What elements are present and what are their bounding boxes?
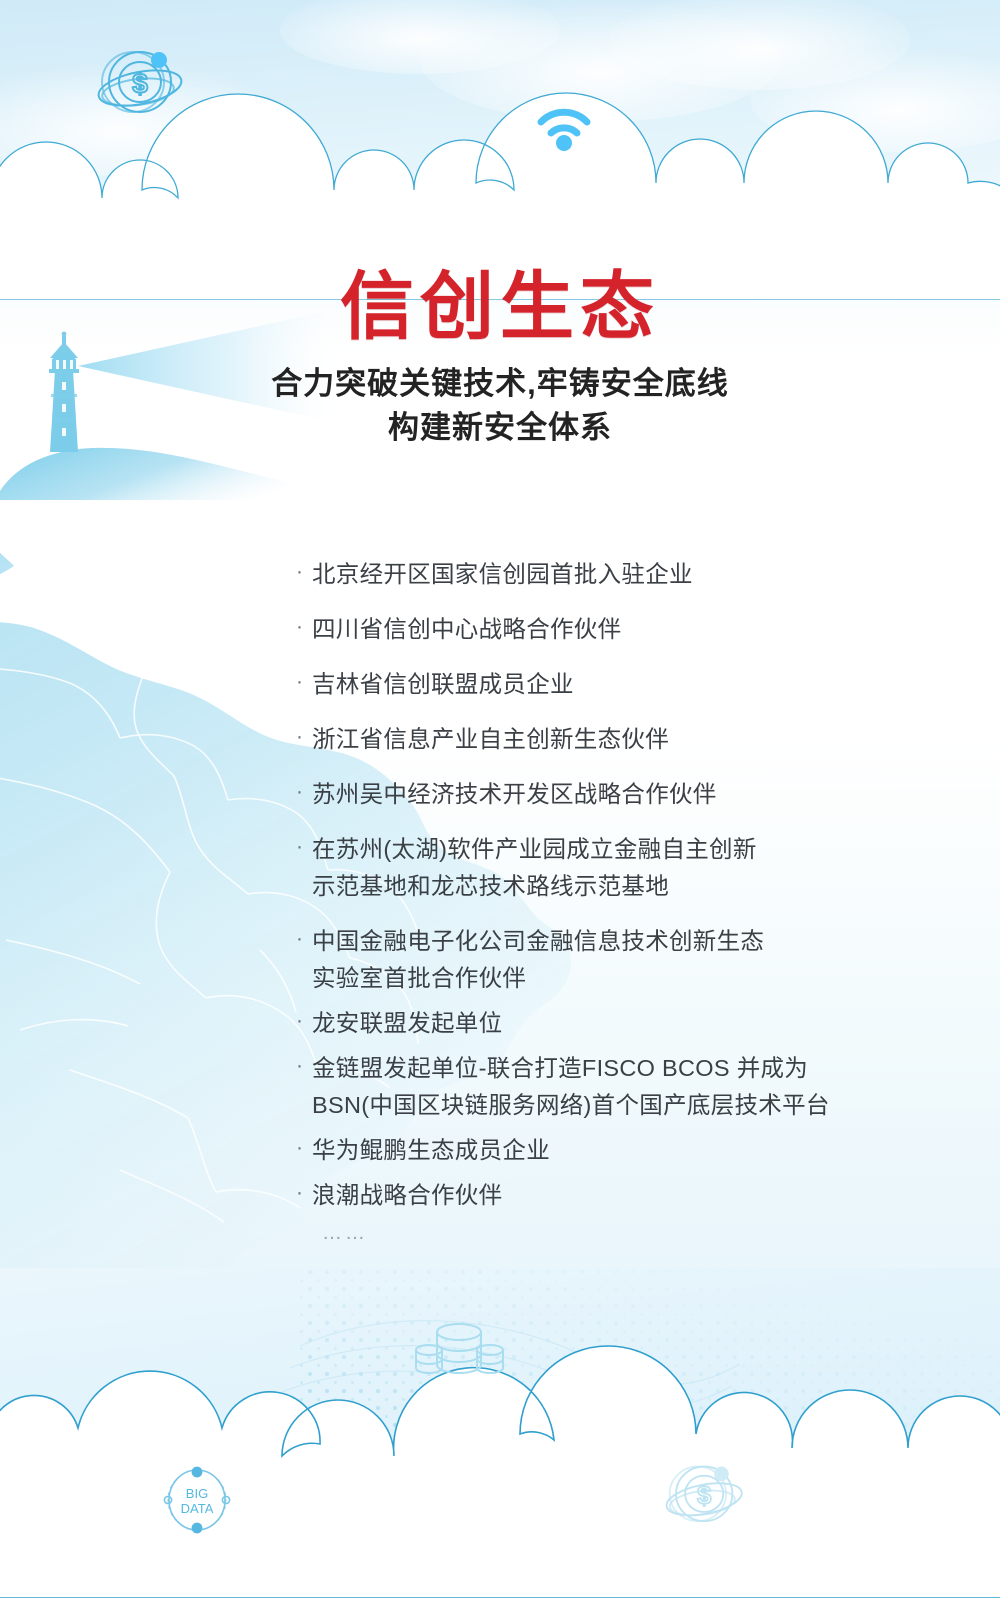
bullet-marker: · [296,1005,312,1036]
bullet-marker: · [296,1177,312,1208]
list-item: · 北京经开区国家信创园首批入驻企业 [296,556,936,593]
bullet-marker: · [296,923,312,954]
list-item-label: 中国金融电子化公司金融信息技术创新生态 实验室首批合作伙伴 [312,923,936,997]
svg-text:$: $ [697,1482,711,1510]
subtitle-line-2: 构建新安全体系 [0,406,1000,450]
bullet-marker: · [296,666,312,697]
dollar-coin-orbit-icon: $ [664,1452,748,1532]
list-item-label: 苏州吴中经济技术开发区战略合作伙伴 [312,776,936,813]
poster-canvas: $ 信创生态 合力突破关键技术,牢铸安全底线 构建新安全体系 · 北京经开区国家… [0,0,1000,1598]
list-item: · 金链盟发起单位-联合打造FISCO BCOS 并成为 BSN(中国区块链服务… [296,1050,936,1124]
list-item: · 在苏州(太湖)软件产业园成立金融自主创新 示范基地和龙芯技术路线示范基地 [296,831,936,905]
bullet-marker: · [296,831,312,862]
list-item: · 四川省信创中心战略合作伙伴 [296,611,936,648]
bullet-marker: · [296,611,312,642]
wifi-icon [532,100,596,152]
list-item-label: 北京经开区国家信创园首批入驻企业 [312,556,936,593]
list-item-label: 在苏州(太湖)软件产业园成立金融自主创新 示范基地和龙芯技术路线示范基地 [312,831,936,905]
list-item-label: 龙安联盟发起单位 [312,1005,936,1042]
bullet-marker: · [296,1050,312,1081]
coin-stack-icon [414,1310,504,1382]
list-ellipsis: …… [322,1222,936,1245]
list-item-label: 吉林省信创联盟成员企业 [312,666,936,703]
bullet-marker: · [296,1132,312,1163]
list-item: · 华为鲲鹏生态成员企业 [296,1132,936,1169]
page-title: 信创生态 [0,270,1000,344]
subtitle-line-1: 合力突破关键技术,牢铸安全底线 [0,362,1000,406]
svg-text:$: $ [132,68,148,99]
list-item-label: 浙江省信息产业自主创新生态伙伴 [312,721,936,758]
list-item-label: 金链盟发起单位-联合打造FISCO BCOS 并成为 BSN(中国区块链服务网络… [312,1050,936,1124]
svg-text:BIG: BIG [186,1486,208,1501]
list-item-label: 华为鲲鹏生态成员企业 [312,1132,936,1169]
list-item-label: 四川省信创中心战略合作伙伴 [312,611,936,648]
big-data-node-icon: BIG DATA [160,1462,234,1538]
list-item: · 苏州吴中经济技术开发区战略合作伙伴 [296,776,936,813]
list-item: · 吉林省信创联盟成员企业 [296,666,936,703]
list-item: · 浙江省信息产业自主创新生态伙伴 [296,721,936,758]
credentials-list: · 北京经开区国家信创园首批入驻企业 · 四川省信创中心战略合作伙伴 · 吉林省… [296,556,936,1245]
list-item: · 中国金融电子化公司金融信息技术创新生态 实验室首批合作伙伴 [296,923,936,997]
list-item-label: 浪潮战略合作伙伴 [312,1177,936,1214]
svg-text:DATA: DATA [181,1501,214,1516]
dollar-coin-orbit-icon: $ [96,36,188,124]
bullet-marker: · [296,721,312,752]
bullet-marker: · [296,776,312,807]
headline-block: 信创生态 合力突破关键技术,牢铸安全底线 构建新安全体系 [0,270,1000,450]
list-item: · 浪潮战略合作伙伴 [296,1177,936,1214]
list-item: · 龙安联盟发起单位 [296,1005,936,1042]
bullet-marker: · [296,556,312,587]
